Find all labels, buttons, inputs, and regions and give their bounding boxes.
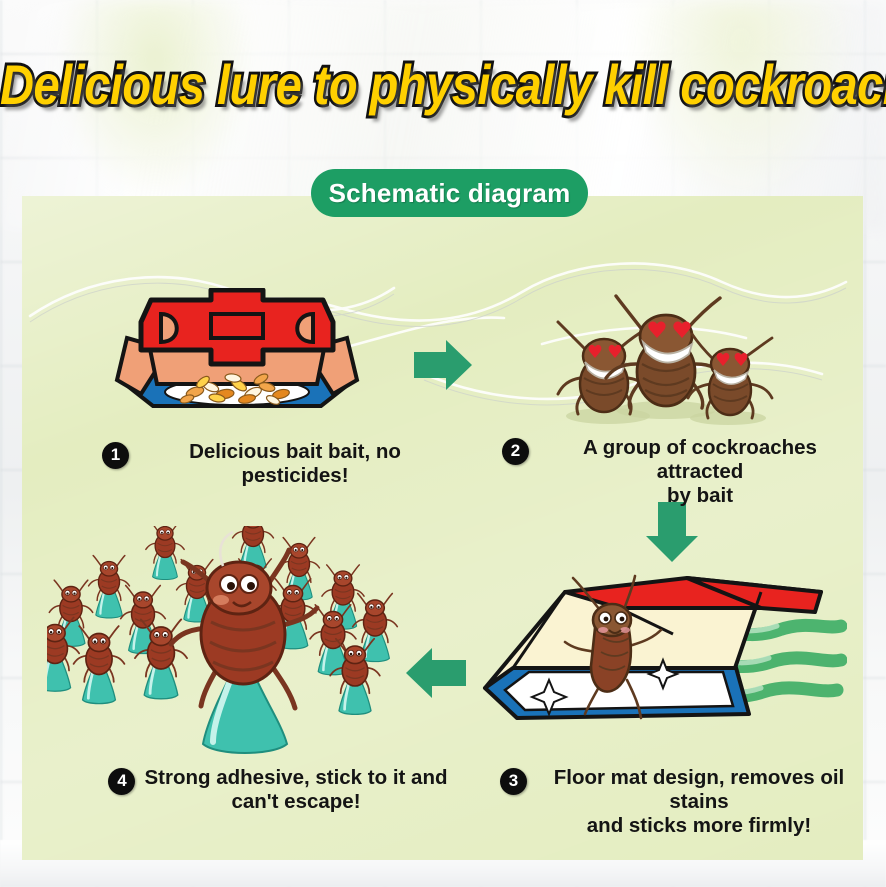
step-2-caption-line-2: by bait — [538, 484, 862, 508]
step-4-caption: 4 Strong adhesive, stick to it and can't… — [98, 766, 458, 814]
step-4-caption-line-1: Strong adhesive, stick to it and — [144, 766, 447, 790]
step-2-caption: 2 A group of cockroaches attracted by ba… — [502, 436, 862, 509]
schematic-diagram-banner: Schematic diagram — [311, 169, 588, 217]
schematic-diagram-label: Schematic diagram — [329, 178, 571, 209]
step-2-illustration — [532, 278, 782, 428]
step-4-badge: 4 — [108, 768, 135, 795]
step-3-caption-text: Floor mat design, removes oil stains and… — [536, 766, 862, 839]
step-3-illustration — [477, 568, 847, 750]
schematic-panel: 1 Delicious bait bait, no pesticides! 2 … — [22, 196, 863, 860]
step-2-badge: 2 — [502, 438, 529, 465]
step-1-caption-text: Delicious bait bait, no pesticides! — [138, 440, 452, 488]
arrow-step3-to-step4 — [400, 642, 472, 704]
step-3-caption-line-1: Floor mat design, removes oil stains — [536, 766, 862, 814]
step-3-caption-line-2: and sticks more firmly! — [536, 814, 862, 838]
step-3-caption: 3 Floor mat design, removes oil stains a… — [500, 766, 862, 839]
arrow-step1-to-step2 — [408, 334, 478, 396]
step-3-badge: 3 — [500, 768, 527, 795]
step-2-caption-line-1: A group of cockroaches attracted — [538, 436, 862, 484]
step-1-caption: 1 Delicious bait bait, no pesticides! — [102, 440, 452, 488]
step-4-caption-text: Strong adhesive, stick to it and can't e… — [144, 766, 447, 814]
step-1-badge: 1 — [102, 442, 129, 469]
step-1-illustration — [107, 288, 367, 423]
step-2-caption-text: A group of cockroaches attracted by bait — [538, 436, 862, 509]
step-4-caption-line-2: can't escape! — [144, 790, 447, 814]
step-4-illustration — [47, 526, 407, 761]
page-title: Delicious lure to physically kill cockro… — [0, 52, 886, 117]
step-1-caption-line-1: Delicious bait bait, no pesticides! — [138, 440, 452, 488]
